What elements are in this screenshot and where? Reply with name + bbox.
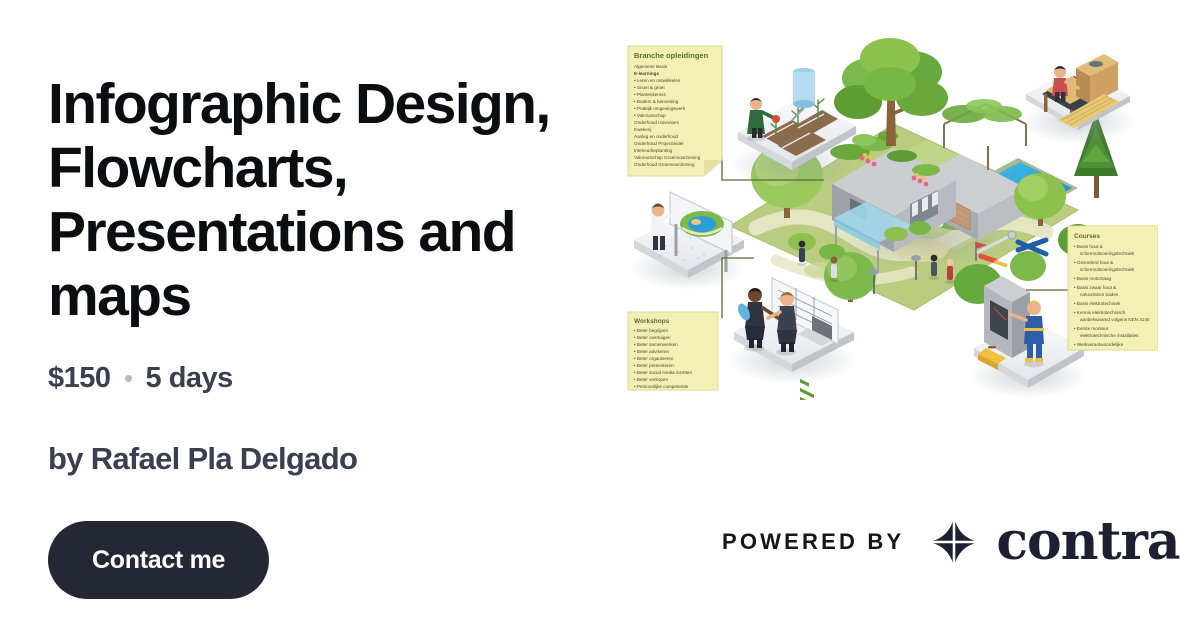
svg-text:• Bodem & bemesting: • Bodem & bemesting [634,99,679,104]
svg-text:• Plantenkennis: • Plantenkennis [634,92,666,97]
svg-text:natuursteen baden: natuursteen baden [1080,292,1119,297]
svg-text:Algemene Basis: Algemene Basis [634,64,668,69]
svg-text:schermuitvoeringstechniek: schermuitvoeringstechniek [1080,251,1135,256]
listing-card: Infographic Design, Flowcharts, Presenta… [0,0,1200,630]
svg-text:• Basis zwaar hout &: • Basis zwaar hout & [1074,285,1116,290]
svg-text:• Beter overtuigen: • Beter overtuigen [634,335,671,340]
price-value: $150 [48,362,111,395]
svg-text:• Kennis elektrotechnisch: • Kennis elektrotechnisch [1074,310,1126,315]
isometric-infographic-illustration: Branche opleidingen Algemene Basis E-lea… [626,28,1158,400]
contact-me-button[interactable]: Contact me [48,521,269,599]
svg-text:Vakmanschap Groenvoorziening: Vakmanschap Groenvoorziening [634,155,701,160]
note-branch-training: Branche opleidingen Algemene Basis E-lea… [628,46,722,176]
svg-text:Courses: Courses [1074,233,1100,240]
page-title: Infographic Design, Flowcharts, Presenta… [48,72,593,328]
svg-text:• Eerste monteur: • Eerste monteur [1074,326,1109,331]
svg-text:• Vakmanschap: • Vakmanschap [634,113,666,118]
svg-text:Onderhoud Groenvoorziening: Onderhoud Groenvoorziening [634,162,695,167]
contra-star-icon [926,514,982,570]
svg-text:• Gevorderd hout &: • Gevorderd hout & [1074,260,1113,265]
svg-text:• Beter adviseren: • Beter adviseren [634,349,670,354]
svg-text:• Praktijk omgevingswerk: • Praktijk omgevingswerk [634,106,686,111]
svg-text:• Beter verkopen: • Beter verkopen [634,377,668,382]
svg-text:• Leren en ontwikkelen: • Leren en ontwikkelen [634,78,681,83]
svg-text:Kwekerij: Kwekerij [634,127,651,132]
svg-text:• Beter organiseren: • Beter organiseren [634,356,674,361]
svg-text:aanbekwaamd volgens NEN 3140: aanbekwaamd volgens NEN 3140 [1080,317,1150,322]
svg-text:• Basis motorzaag: • Basis motorzaag [1074,276,1112,281]
svg-text:Aanleg en onderhoud: Aanleg en onderhoud [634,134,678,139]
contra-wordmark: contra [996,516,1179,568]
svg-text:Interieurbeplanting: Interieurbeplanting [634,148,672,153]
svg-text:• Beter begrijpen: • Beter begrijpen [634,328,668,333]
svg-text:• Snoei & groei: • Snoei & groei [634,85,664,90]
duration-value: 5 days [146,362,233,395]
listing-meta: $150 5 days [48,362,608,395]
meta-separator-dot [125,375,132,382]
svg-text:• Werkverantwoordelijke: • Werkverantwoordelijke [1074,342,1124,347]
svg-text:E-learnings: E-learnings [634,71,659,76]
portfolio-artwork: Branche opleidingen Algemene Basis E-lea… [626,28,1158,400]
svg-text:Onderhoud Hoveniers: Onderhoud Hoveniers [634,120,680,125]
svg-text:• Beter samenwerken: • Beter samenwerken [634,342,678,347]
listing-details: Infographic Design, Flowcharts, Presenta… [48,72,608,599]
svg-text:schermuitvoeringstechniek: schermuitvoeringstechniek [1080,267,1135,272]
svg-text:• Basis hout &: • Basis hout & [1074,244,1103,249]
contra-logo: contra [926,514,1179,570]
note-courses: Courses • Basis hout & schermuitvoerings… [1068,226,1158,350]
powered-by-contra: POWERED BY contra [722,512,1180,572]
svg-text:Branche opleidingen: Branche opleidingen [634,51,709,60]
powered-by-label: POWERED BY [722,529,904,555]
svg-text:• Basis elektrotechniek: • Basis elektrotechniek [1074,301,1121,306]
svg-text:• Beter social media inzetten: • Beter social media inzetten [634,370,692,375]
water-tank [793,68,815,108]
note-workshops: Workshops • Beter begrijpen • Beter over… [628,312,718,390]
svg-text:• Beter presenteren: • Beter presenteren [634,363,674,368]
svg-text:elektrotechnische installaties: elektrotechnische installaties [1080,333,1139,338]
svg-text:• Persoonlijke competentie: • Persoonlijke competentie [634,384,689,389]
svg-text:Onderhoud Projectleider: Onderhoud Projectleider [634,141,684,146]
author-byline: by Rafael Pla Delgado [48,441,608,477]
svg-text:Workshops: Workshops [634,318,670,325]
